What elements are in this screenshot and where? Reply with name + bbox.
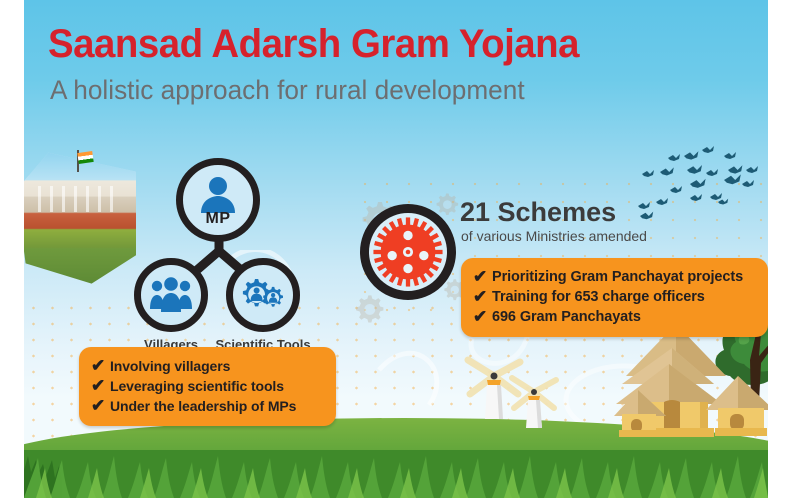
check-icon: ✔ xyxy=(473,308,492,325)
check-icon: ✔ xyxy=(473,288,492,305)
callout-item-text: Training for 653 charge officers xyxy=(492,289,705,305)
callout-item: ✔ Leveraging scientific tools xyxy=(91,377,322,394)
pillar-decoration xyxy=(38,186,41,212)
pillar-decoration xyxy=(86,186,89,212)
parliament-building-photo xyxy=(24,150,136,285)
diagram-node-mp-label: MP xyxy=(183,210,253,228)
people-group-icon xyxy=(146,275,196,315)
diagram-node-villagers[interactable] xyxy=(134,258,208,332)
callout-item-text: Prioritizing Gram Panchayat projects xyxy=(492,269,743,285)
pillar-decoration xyxy=(98,186,101,212)
callout-item: ✔ Under the leadership of MPs xyxy=(91,397,322,414)
page-title: Saansad Adarsh Gram Yojana xyxy=(48,22,579,67)
callout-item: ✔ 696 Gram Panchayats xyxy=(473,308,754,325)
callout-approach-list: ✔ Involving villagers ✔ Leveraging scien… xyxy=(79,347,336,426)
schemes-gear-node[interactable] xyxy=(360,204,456,300)
bird-flock-icon xyxy=(624,140,768,250)
pillar-decoration xyxy=(50,186,53,212)
check-icon: ✔ xyxy=(91,377,110,394)
check-icon: ✔ xyxy=(473,268,492,285)
grass-strip xyxy=(24,450,768,498)
schemes-count-heading: 21 Schemes xyxy=(460,197,616,228)
windmill-icon xyxy=(509,372,559,432)
callout-item-text: Under the leadership of MPs xyxy=(110,398,296,414)
callout-item-text: Leveraging scientific tools xyxy=(110,378,284,394)
schemes-subtext: of various Ministries amended xyxy=(461,228,647,244)
callout-item-text: Involving villagers xyxy=(110,358,230,374)
callout-item: ✔ Prioritizing Gram Panchayat projects xyxy=(473,268,754,285)
callout-item: ✔ Training for 653 charge officers xyxy=(473,288,754,305)
check-icon: ✔ xyxy=(91,397,110,414)
pillar-decoration xyxy=(62,186,65,212)
callout-schemes-list: ✔ Prioritizing Gram Panchayat projects ✔… xyxy=(461,258,768,337)
pillar-decoration xyxy=(74,186,77,212)
page-subtitle: A holistic approach for rural developmen… xyxy=(50,75,525,106)
red-gear-icon xyxy=(372,216,444,288)
pillar-decoration xyxy=(110,186,113,212)
check-icon: ✔ xyxy=(91,357,110,374)
infographic-poster: Saansad Adarsh Gram Yojana A holistic ap… xyxy=(24,0,768,498)
thatched-hut-icon xyxy=(614,318,768,448)
indian-flag-icon xyxy=(77,151,93,164)
gears-people-icon xyxy=(237,275,289,315)
diagram-node-scientific-tools[interactable] xyxy=(226,258,300,332)
diagram-node-mp[interactable]: MP xyxy=(176,158,260,242)
callout-item-text: 696 Gram Panchayats xyxy=(492,309,641,325)
callout-item: ✔ Involving villagers xyxy=(91,357,322,374)
